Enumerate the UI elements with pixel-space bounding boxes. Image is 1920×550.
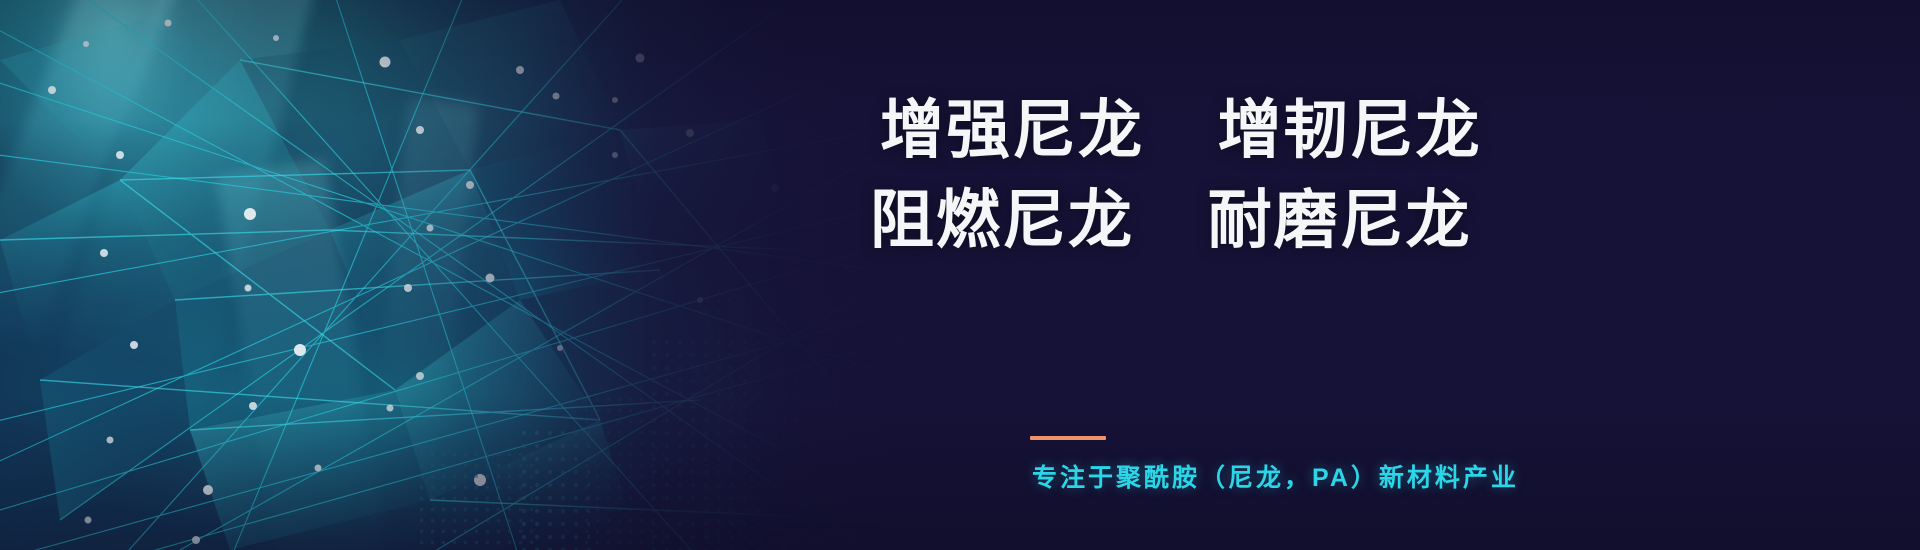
headline-1-right: 增韧尼龙 [1218,94,1482,166]
headline-1-left: 增强尼龙 [880,94,1144,166]
banner-content: 增强尼龙 增韧尼龙 阻燃尼龙 耐磨尼龙 专注于聚酰胺（尼龙，PA）新材料产业 [880,0,1640,550]
headline-2-right: 耐磨尼龙 [1208,184,1472,256]
hero-banner: 增强尼龙 增韧尼龙 阻燃尼龙 耐磨尼龙 专注于聚酰胺（尼龙，PA）新材料产业 [0,0,1920,550]
accent-divider [1030,436,1106,440]
headline-line-2: 阻燃尼龙 耐磨尼龙 [870,188,1472,252]
headline-line-1: 增强尼龙 增韧尼龙 [880,98,1482,162]
headline-2-left: 阻燃尼龙 [870,184,1134,256]
tagline: 专注于聚酰胺（尼龙，PA）新材料产业 [1032,458,1519,494]
